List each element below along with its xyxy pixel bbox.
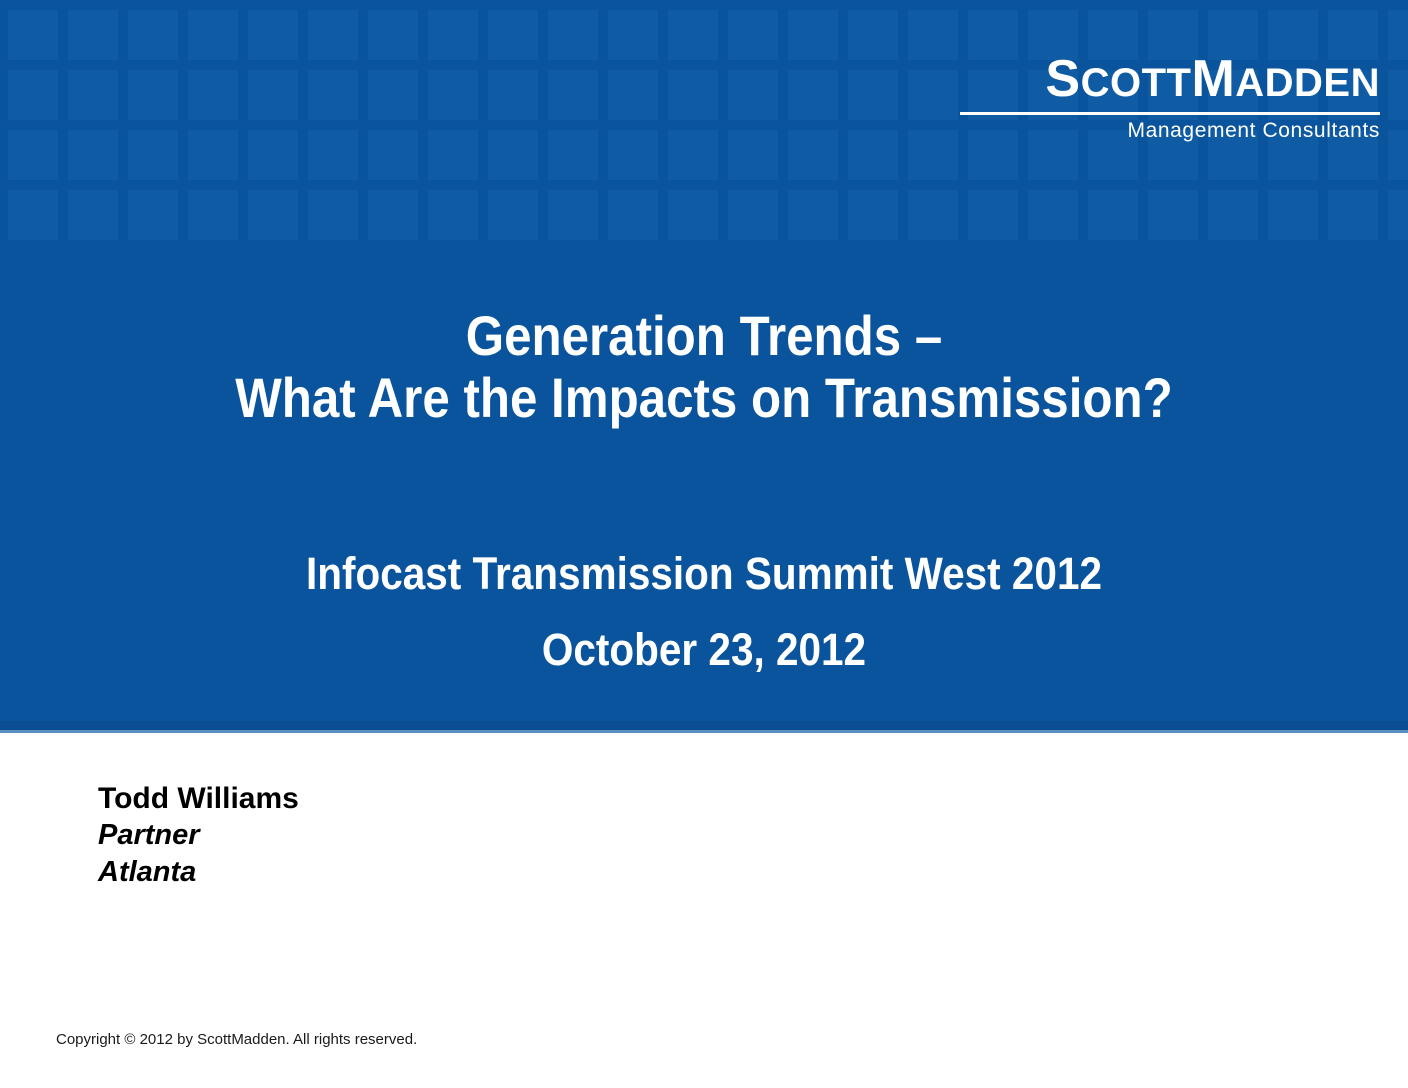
grid-square xyxy=(248,70,298,120)
grid-square xyxy=(788,130,838,180)
logo-letter-m: M xyxy=(1191,50,1235,108)
grid-square xyxy=(488,10,538,60)
logo-tagline: Management Consultants xyxy=(960,118,1380,144)
grid-square xyxy=(848,130,898,180)
grid-square xyxy=(1088,190,1138,240)
grid-square xyxy=(128,10,178,60)
copyright-footer: Copyright © 2012 by ScottMadden. All rig… xyxy=(56,1030,417,1049)
grid-square xyxy=(728,130,778,180)
panel-bottom-hairline xyxy=(0,730,1408,733)
grid-square xyxy=(788,10,838,60)
grid-square xyxy=(848,70,898,120)
grid-square xyxy=(1268,190,1318,240)
grid-square xyxy=(248,130,298,180)
grid-square xyxy=(608,190,658,240)
grid-square xyxy=(428,130,478,180)
grid-square xyxy=(908,130,958,180)
grid-square xyxy=(68,190,118,240)
grid-square xyxy=(308,190,358,240)
grid-square xyxy=(128,190,178,240)
grid-square xyxy=(908,10,958,60)
grid-square xyxy=(1028,190,1078,240)
title-line-1: Generation Trends – xyxy=(84,305,1323,367)
grid-square xyxy=(668,70,718,120)
grid-square xyxy=(188,130,238,180)
grid-square xyxy=(128,70,178,120)
grid-square xyxy=(548,130,598,180)
grid-square xyxy=(488,70,538,120)
slide-title: Generation Trends – What Are the Impacts… xyxy=(0,305,1408,429)
grid-square xyxy=(68,70,118,120)
grid-square xyxy=(8,10,58,60)
logo-underline-rule xyxy=(960,112,1380,115)
grid-square xyxy=(1388,130,1408,180)
grid-square xyxy=(668,10,718,60)
grid-square xyxy=(488,130,538,180)
grid-square xyxy=(908,70,958,120)
grid-square xyxy=(548,10,598,60)
grid-square xyxy=(548,190,598,240)
grid-square xyxy=(728,190,778,240)
title-slide: SCOTTMADDEN Management Consultants Gener… xyxy=(0,0,1408,1088)
grid-square xyxy=(428,10,478,60)
subtitle-date: October 23, 2012 xyxy=(70,612,1337,688)
grid-square xyxy=(728,70,778,120)
grid-square xyxy=(908,190,958,240)
grid-square xyxy=(608,70,658,120)
grid-square xyxy=(788,190,838,240)
grid-square xyxy=(8,70,58,120)
grid-square xyxy=(848,10,898,60)
grid-square xyxy=(248,10,298,60)
grid-square xyxy=(848,190,898,240)
logo-letter-s: S xyxy=(1045,50,1080,108)
grid-square xyxy=(668,130,718,180)
grid-square xyxy=(368,130,418,180)
grid-square xyxy=(188,190,238,240)
grid-square xyxy=(368,10,418,60)
grid-square xyxy=(188,70,238,120)
grid-square xyxy=(248,190,298,240)
grid-square xyxy=(68,130,118,180)
grid-square xyxy=(128,130,178,180)
grid-square xyxy=(428,70,478,120)
grid-square xyxy=(8,190,58,240)
grid-square xyxy=(8,130,58,180)
logo-wordmark: SCOTTMADDEN xyxy=(960,52,1380,110)
grid-square xyxy=(308,70,358,120)
grid-square xyxy=(428,190,478,240)
grid-square xyxy=(308,130,358,180)
grid-square xyxy=(1388,70,1408,120)
scottmadden-logo: SCOTTMADDEN Management Consultants xyxy=(960,52,1380,144)
presenter-name: Todd Williams xyxy=(98,780,299,817)
grid-square xyxy=(1388,10,1408,60)
grid-square xyxy=(608,10,658,60)
grid-square xyxy=(368,190,418,240)
grid-square xyxy=(188,10,238,60)
grid-square xyxy=(68,10,118,60)
grid-square xyxy=(728,10,778,60)
grid-square xyxy=(308,10,358,60)
grid-square xyxy=(1388,190,1408,240)
grid-square xyxy=(608,130,658,180)
slide-subtitle: Infocast Transmission Summit West 2012 O… xyxy=(0,536,1408,688)
logo-text-adden: ADDEN xyxy=(1235,61,1380,105)
subtitle-event: Infocast Transmission Summit West 2012 xyxy=(70,536,1337,612)
grid-square xyxy=(368,70,418,120)
grid-square xyxy=(968,190,1018,240)
grid-square xyxy=(548,70,598,120)
grid-square xyxy=(488,190,538,240)
grid-square xyxy=(1328,190,1378,240)
presenter-office: Atlanta xyxy=(98,854,299,891)
presenter-role: Partner xyxy=(98,817,299,854)
logo-text-cott: COTT xyxy=(1081,61,1192,105)
grid-square xyxy=(1148,190,1198,240)
presenter-block: Todd Williams Partner Atlanta xyxy=(98,780,299,891)
title-line-2: What Are the Impacts on Transmission? xyxy=(84,367,1323,429)
grid-square xyxy=(788,70,838,120)
grid-square xyxy=(668,190,718,240)
grid-square xyxy=(1208,190,1258,240)
